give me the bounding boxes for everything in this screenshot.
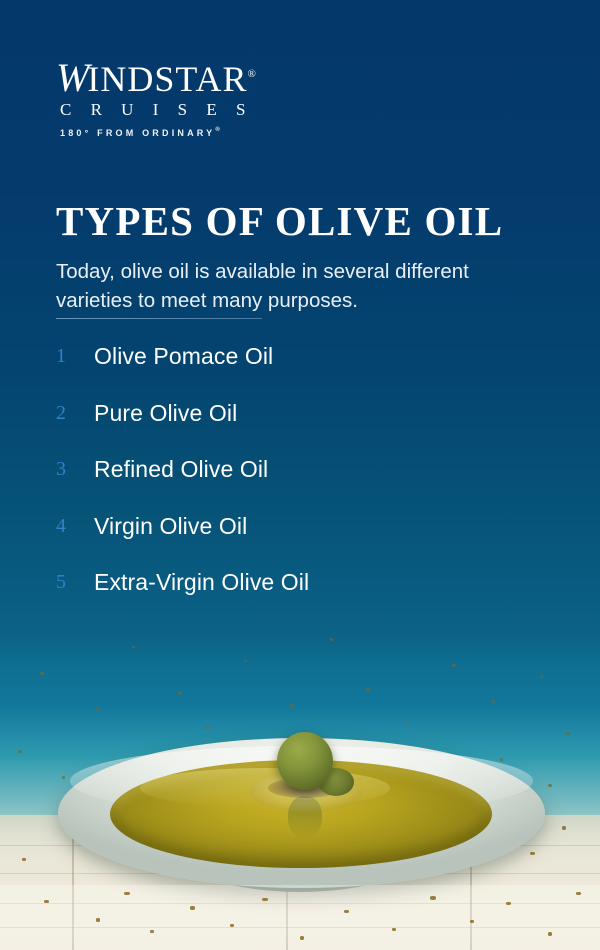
herb-crumb — [96, 918, 100, 922]
olive-oil-photo — [0, 600, 600, 950]
logo-wordmark-rest: INDSTAR — [87, 59, 247, 99]
herb-crumb — [190, 906, 195, 910]
herb-fleck — [452, 664, 456, 667]
list-item-label: Refined Olive Oil — [94, 454, 268, 484]
list-item-label: Extra-Virgin Olive Oil — [94, 567, 309, 597]
page-title: TYPES OF OLIVE OIL — [56, 199, 503, 243]
herb-crumb — [344, 910, 349, 913]
herb-crumb — [392, 928, 396, 931]
herb-fleck — [492, 700, 495, 703]
herb-crumb — [262, 898, 268, 901]
green-olive — [277, 732, 333, 790]
list-item: 5 Extra-Virgin Olive Oil — [56, 567, 516, 624]
list-item-label: Pure Olive Oil — [94, 398, 237, 428]
herb-crumb — [430, 896, 436, 900]
herb-crumb — [548, 932, 552, 936]
herb-fleck — [366, 688, 370, 691]
list-item: 2 Pure Olive Oil — [56, 398, 516, 455]
herb-crumb — [576, 892, 581, 895]
herb-crumb — [230, 924, 234, 927]
herb-crumb — [150, 930, 154, 933]
herb-fleck — [404, 722, 407, 724]
list-item-number: 2 — [56, 398, 94, 428]
list-item-label: Virgin Olive Oil — [94, 511, 247, 541]
logo-tagline: 180° FROM ORDINARY® — [60, 127, 356, 138]
list-item: 4 Virgin Olive Oil — [56, 511, 516, 568]
page-subtitle: Today, olive oil is available in several… — [56, 257, 534, 315]
table-light-band — [0, 885, 600, 950]
list-item-number: 5 — [56, 567, 94, 597]
herb-fleck — [566, 732, 570, 735]
list-item-label: Olive Pomace Oil — [94, 341, 273, 371]
windstar-cruises-logo[interactable]: WINDSTAR® C R U I S E S 180° FROM ORDINA… — [56, 56, 356, 138]
herb-fleck — [244, 660, 247, 662]
registered-trademark-icon: ® — [247, 68, 255, 80]
herb-fleck — [96, 708, 99, 711]
herb-fleck — [548, 784, 552, 787]
herb-fleck — [290, 704, 294, 707]
herb-crumb — [530, 852, 535, 855]
herb-fleck — [40, 672, 44, 675]
logo-wordmark-initial: W — [56, 55, 90, 100]
herb-crumb — [44, 900, 49, 903]
section-divider — [56, 318, 262, 319]
herb-fleck — [330, 638, 333, 641]
herb-crumb — [506, 902, 511, 905]
herb-crumb — [470, 920, 474, 923]
list-item: 3 Refined Olive Oil — [56, 454, 516, 511]
herb-fleck — [500, 758, 503, 761]
herb-fleck — [132, 646, 135, 648]
list-item: 1 Olive Pomace Oil — [56, 341, 516, 398]
list-item-number: 3 — [56, 454, 94, 484]
herb-crumb — [562, 826, 566, 830]
herb-crumb — [124, 892, 130, 895]
oil-types-list: 1 Olive Pomace Oil 2 Pure Olive Oil 3 Re… — [56, 341, 516, 624]
list-item-number: 4 — [56, 511, 94, 541]
logo-subname: C R U I S E S — [60, 100, 356, 120]
logo-wordmark: WINDSTAR® — [56, 56, 356, 97]
herb-fleck — [62, 776, 65, 779]
herb-crumb — [22, 858, 26, 861]
olive-oil-infographic: WINDSTAR® C R U I S E S 180° FROM ORDINA… — [0, 0, 600, 950]
herb-fleck — [540, 676, 543, 678]
herb-fleck — [206, 726, 209, 729]
tagline-trademark-icon: ® — [215, 127, 219, 133]
herb-crumb — [300, 936, 304, 940]
herb-fleck — [178, 692, 182, 695]
list-item-number: 1 — [56, 341, 94, 371]
logo-tagline-text: 180° FROM ORDINARY — [60, 128, 215, 138]
herb-fleck — [18, 750, 22, 753]
